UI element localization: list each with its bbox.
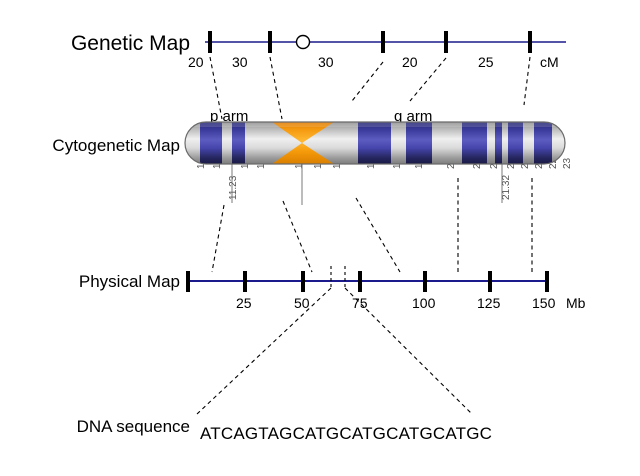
- connector-line: [210, 57, 222, 119]
- connector-group-cytogenetic-to-physical: [212, 178, 532, 272]
- figure-graphics: [0, 0, 640, 476]
- chromosome-highlight: [185, 122, 565, 127]
- band-leader-group: [232, 164, 502, 205]
- genetic-map-figure: Genetic Map Cytogenetic Map Physical Map…: [0, 0, 640, 476]
- band-12.3: [406, 122, 432, 164]
- connector-line: [270, 57, 282, 119]
- connector-line: [345, 288, 472, 414]
- chromosome-ideogram: [185, 122, 565, 164]
- band-11.22: [232, 122, 245, 164]
- band-11.31: [200, 122, 222, 164]
- connector-line: [356, 198, 400, 272]
- connector-line: [410, 58, 446, 101]
- genetic-marker-circle: [297, 36, 310, 49]
- band-21.32: [495, 122, 502, 164]
- band-12.1: [358, 122, 391, 164]
- band-21.2: [462, 122, 487, 164]
- genetic-map-axis: [205, 31, 566, 53]
- band-22.1: [508, 122, 523, 164]
- connector-line: [197, 288, 331, 414]
- connector-group-physical-to-dna: [197, 288, 472, 414]
- connector-group-genetic-to-cytogenetic: [210, 57, 530, 119]
- connector-line: [212, 205, 224, 272]
- connector-line: [524, 57, 530, 105]
- connector-line: [352, 62, 383, 101]
- physical-map-axis: [188, 266, 547, 292]
- connector-line: [283, 201, 312, 272]
- band-22.3: [534, 122, 552, 164]
